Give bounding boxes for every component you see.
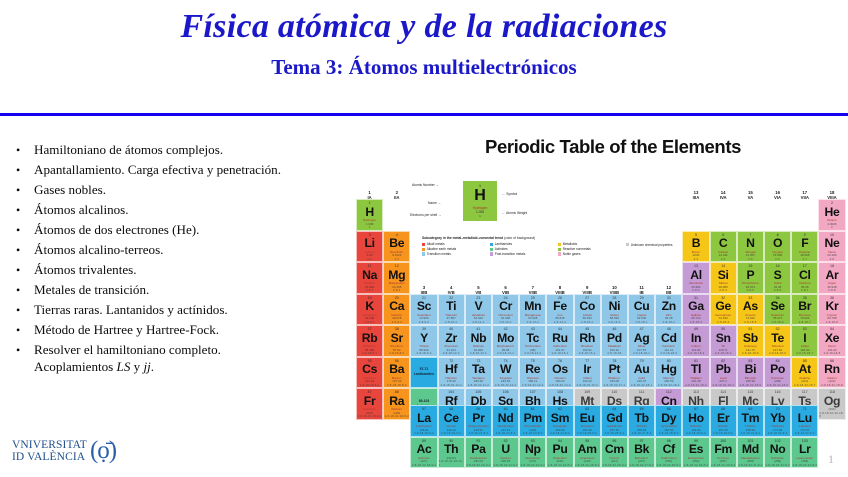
element-shells: 2-8-18-32-29-8-2	[684, 464, 708, 467]
element-shells: 2-8-18-32-18-1	[631, 384, 652, 387]
element-symbol: Au	[634, 363, 650, 375]
element-number: 45	[585, 327, 589, 331]
element-symbol: Be	[389, 237, 404, 249]
element-number: 60	[504, 407, 508, 411]
bullet-dot-icon: •	[14, 142, 34, 158]
element-symbol: Sm	[551, 412, 569, 424]
element-cell: 56BaBarium137.332-8-18-18-8-2	[383, 357, 410, 389]
element-symbol: Ar	[826, 269, 839, 281]
element-number: 32	[721, 296, 725, 300]
element-shells: 2-8-18-32-18-4	[712, 384, 733, 387]
element-shells: 2-8-18-10-2	[443, 352, 460, 355]
element-number: 71	[803, 407, 807, 411]
element-cell: 95AmAmericium(243)2-8-18-32-25-8-2	[574, 437, 601, 469]
element-cell: 59PrPraseodymium140.912-8-18-21-8-2	[465, 405, 492, 437]
element-shells: 2-8-16-2	[608, 321, 620, 324]
element-shells: 2-8-18-4	[717, 321, 729, 324]
group-number: 5	[477, 285, 479, 290]
key-label-shells: Electrons per shell →	[410, 213, 441, 217]
element-shells: 2-8-18-28-8-2	[659, 432, 679, 435]
element-cell: 45RhRhodium102.912-8-18-16-1	[574, 325, 601, 357]
element-number: 95	[585, 439, 589, 443]
element-shells: 1	[369, 226, 371, 229]
element-cell: 84PoPolonium(209)2-8-18-32-18-6	[764, 357, 791, 389]
legend-item: Post-transition metals	[490, 252, 554, 257]
element-number: 92	[504, 439, 508, 443]
element-number: 41	[476, 327, 480, 331]
element-number: 99	[694, 439, 698, 443]
element-shells: 2-8-18-32-25-8-2	[575, 464, 599, 467]
bullet-label-line2: Acoplamientos LS y jj.	[34, 359, 366, 376]
element-symbol: S	[774, 269, 782, 281]
element-shells: 2-8-18-8	[826, 321, 838, 324]
bullet-label: Átomos de dos electrones (He).	[34, 222, 366, 239]
element-shells: 2-8-6	[774, 289, 782, 292]
element-cell: 69TmThulium168.932-8-18-31-8-2	[737, 405, 764, 437]
element-symbol: H	[365, 206, 374, 218]
element-number: 9	[804, 233, 806, 237]
element-number: 86	[830, 359, 834, 363]
element-number: 109	[584, 390, 590, 394]
element-symbol: He	[824, 206, 839, 218]
element-cell: 97BkBerkelium(247)2-8-18-32-27-8-2	[628, 437, 655, 469]
element-number: 66	[667, 407, 671, 411]
element-number: 30	[667, 296, 671, 300]
element-cell: 26FeIron55.8452-8-14-2	[546, 294, 573, 326]
element-number: 98	[667, 439, 671, 443]
legend-unknown-label: Unknown chemical properties	[631, 243, 673, 248]
group-number: 15	[748, 190, 753, 195]
element-shells: 2-8-18-32-18-10-2	[439, 460, 464, 467]
element-number: 25	[531, 296, 535, 300]
element-cell: 63EuEuropium151.962-8-18-25-8-2	[574, 405, 601, 437]
element-cell: 55CsCaesium132.912-8-18-18-8-1	[356, 357, 383, 389]
element-number: 76	[558, 359, 562, 363]
element-cell: 50SnTin118.712-8-18-18-4	[710, 325, 737, 357]
element-number: 36	[830, 296, 834, 300]
element-shells: 2-8-18-32-12-2	[495, 384, 516, 387]
element-cell: 9FFluorine18.9982-7	[791, 231, 818, 263]
element-symbol: Th	[444, 443, 458, 455]
element-shells: 2-1	[367, 258, 372, 261]
element-number: 44	[558, 327, 562, 331]
page-subtitle: Tema 3: Átomos multielectrónicos	[0, 45, 848, 79]
element-symbol: Yb	[770, 412, 785, 424]
element-number: 10	[830, 233, 834, 237]
element-cell: 93NpNeptunium(237)2-8-18-32-22-9-2	[519, 437, 546, 469]
element-symbol: Am	[578, 443, 597, 455]
element-symbol: W	[500, 363, 511, 375]
element-shells: 2-8-8	[828, 289, 836, 292]
element-number: 87	[368, 390, 372, 394]
legend-column: MetalloidsReactive nonmetalsNoble gases	[558, 242, 622, 256]
element-shells: 2-8-18-7	[799, 321, 811, 324]
element-number: 47	[640, 327, 644, 331]
group-roman: VIIA	[791, 195, 818, 200]
element-shells: 2-8-18-18-9-2	[414, 432, 434, 435]
element-cell: 47AgSilver107.872-8-18-18-1	[628, 325, 655, 357]
element-symbol: Fm	[714, 443, 732, 455]
element-number: 51	[748, 327, 752, 331]
group-number: 6	[504, 285, 506, 290]
element-number: 22	[449, 296, 453, 300]
element-cell: 72HfHafnium178.492-8-18-32-10-2	[438, 357, 465, 389]
group-number: 12	[666, 285, 671, 290]
element-cell: 68ErErbium167.262-8-18-30-8-2	[710, 405, 737, 437]
element-symbol: Pt	[609, 363, 621, 375]
bullet-label: Átomos alcalino-terreos.	[34, 242, 366, 259]
element-cell: 85AtAstatine(210)2-8-18-32-18-7	[791, 357, 818, 389]
element-number: 84	[776, 359, 780, 363]
element-cell: 12MgMagnesium24.3052-8-2	[383, 262, 410, 294]
element-cell: 48CdCadmium112.412-8-18-18-2	[655, 325, 682, 357]
element-number: 48	[667, 327, 671, 331]
group-number: 14	[721, 190, 726, 195]
element-shells: 2-8-18-32-24-8-2	[548, 464, 572, 467]
bullet-dot-icon: •	[14, 202, 34, 218]
element-cell: 53IIodine126.902-8-18-18-7	[791, 325, 818, 357]
element-shells: 2-8-18-19-9-2	[441, 432, 461, 435]
element-number: 33	[748, 296, 752, 300]
element-number: 116	[775, 390, 781, 394]
element-number: 77	[585, 359, 589, 363]
element-number: 68	[721, 407, 725, 411]
element-shells: 2-8-18-2	[663, 321, 675, 324]
element-shells: 2-8-18-6	[772, 321, 784, 324]
legend-unknown-swatch-icon	[626, 243, 629, 246]
element-shells: 2-8-8-1	[364, 321, 374, 324]
element-cell: 46PdPalladium106.422-8-18-18	[601, 325, 628, 357]
element-shells: 2-8-5	[747, 289, 755, 292]
element-number: 103	[802, 439, 808, 443]
element-shells: 2-8-18-18-8-1	[360, 384, 380, 387]
bullet-label: Método de Hartree y Hartree-Fock.	[34, 322, 366, 339]
element-shells: 2-8-18-32-14-2	[549, 384, 570, 387]
element-number: 62	[558, 407, 562, 411]
element-symbol: Xe	[825, 332, 839, 344]
element-cell: 81TlThallium204.382-8-18-32-18-3	[682, 357, 709, 389]
element-symbol: Li	[364, 237, 374, 249]
element-shells: 2-8-18-25-8-2	[577, 432, 597, 435]
element-number: 107	[530, 390, 536, 394]
element-symbol: Sr	[391, 332, 403, 344]
element-symbol: Br	[798, 300, 811, 312]
bullet-item: •Gases nobles.	[14, 182, 366, 199]
element-cell: 58CeCerium140.122-8-18-19-9-2	[438, 405, 465, 437]
element-number: 23	[476, 296, 480, 300]
element-number: 52	[776, 327, 780, 331]
periodic-table-title: Periodic Table of the Elements	[382, 136, 844, 158]
element-shells: 2-8-18-18-3	[688, 352, 705, 355]
element-symbol: Cu	[634, 300, 650, 312]
group-roman: IIA	[383, 195, 410, 200]
element-cell: 66DyDysprosium162.502-8-18-28-8-2	[655, 405, 682, 437]
group-header: 2IIA	[383, 190, 410, 201]
element-cell: 73TaTantalum180.952-8-18-32-11-2	[465, 357, 492, 389]
element-shells: 2-8-18-12-1	[470, 352, 487, 355]
element-cell: 21ScScandium44.9562-8-9-2	[410, 294, 437, 326]
element-cell: 4BeBeryllium9.01222-2	[383, 231, 410, 263]
element-symbol: Gd	[606, 412, 622, 424]
bullet-label: Hamiltoniano de átomos complejos.	[34, 142, 366, 159]
element-shells: 2-2	[394, 258, 399, 261]
bullet-dot-icon: •	[14, 222, 34, 238]
element-symbol: Md	[742, 443, 759, 455]
element-symbol: Tc	[526, 332, 539, 344]
element-symbol: Ac	[416, 443, 431, 455]
element-cell: 37RbRubidium85.4682-8-18-8-1	[356, 325, 383, 357]
element-shells: 2-8-18-31-8-2	[741, 432, 761, 435]
element-number: 56	[395, 359, 399, 363]
element-number: 93	[531, 439, 535, 443]
element-number: 63	[585, 407, 589, 411]
element-shells: 2-8-13-1	[500, 321, 512, 324]
element-shells: 2-8-18-5	[744, 321, 756, 324]
element-cell: 99EsEinsteinium(252)2-8-18-32-29-8-2	[682, 437, 709, 469]
element-symbol: Se	[770, 300, 784, 312]
bullet-label: Resolver el hamiltoniano completo.Acopla…	[34, 342, 366, 376]
element-number: 97	[640, 439, 644, 443]
element-symbol: U	[501, 443, 510, 455]
element-symbol: Bi	[745, 363, 757, 375]
legend-item-label: Noble gases	[563, 252, 581, 257]
element-cell: 65TbTerbium158.932-8-18-27-8-2	[628, 405, 655, 437]
element-number: 12	[395, 264, 399, 268]
element-number: 108	[557, 390, 563, 394]
legend-swatch-icon	[558, 248, 561, 251]
element-number: 91	[476, 439, 480, 443]
element-symbol: B	[692, 237, 701, 249]
element-number: 38	[395, 327, 399, 331]
element-shells: 2-3	[694, 258, 699, 261]
element-cell: 102NoNobelium(259)2-8-18-32-32-8-2	[764, 437, 791, 469]
element-symbol: Pu	[552, 443, 567, 455]
element-number: 14	[721, 264, 725, 268]
element-symbol: Cs	[362, 363, 377, 375]
element-cell: 76OsOsmium190.232-8-18-32-14-2	[546, 357, 573, 389]
element-cell: 79AuGold196.972-8-18-32-18-1	[628, 357, 655, 389]
element-shells: 2-8-18-32-31-8-2	[738, 464, 762, 467]
element-shells: 2-8-18-32-18-9-2	[412, 464, 436, 467]
key-label-weight: ← Atomic Weight	[502, 211, 527, 215]
element-cell: 22TiTitanium47.8672-8-10-2	[438, 294, 465, 326]
element-cell: 27CoCobalt58.9332-8-15-2	[574, 294, 601, 326]
element-number: 82	[721, 359, 725, 363]
element-number: 26	[558, 296, 562, 300]
element-cell: 86RnRadon(222)2-8-18-32-18-8	[818, 357, 845, 389]
element-number: 2	[831, 201, 833, 205]
element-number: 6	[722, 233, 724, 237]
group-roman: VA	[737, 195, 764, 200]
element-number: 61	[531, 407, 535, 411]
element-cell: 29CuCopper63.5462-8-18-1	[628, 294, 655, 326]
element-cell: 28NiNickel58.6932-8-16-2	[601, 294, 628, 326]
element-symbol: Cl	[799, 269, 811, 281]
element-cell: 54XeXenon131.292-8-18-18-8	[818, 325, 845, 357]
element-symbol: Ti	[446, 300, 456, 312]
element-symbol: Tm	[742, 412, 760, 424]
element-shells: 2-8-18-32-27-8-2	[629, 464, 653, 467]
element-cell: 71LuLutetium174.972-8-18-32-9-2	[791, 405, 818, 437]
element-shells: 2-8-18-18-2	[660, 352, 677, 355]
element-number: 18	[830, 264, 834, 268]
element-shells: 2-8-18-32-18-7	[794, 384, 815, 387]
element-symbol: Er	[717, 412, 729, 424]
bullet-item: •Átomos de dos electrones (He).	[14, 222, 366, 239]
element-symbol: O	[773, 237, 782, 249]
element-cell: 70YbYtterbium173.052-8-18-32-8-2	[764, 405, 791, 437]
element-cell: 15PPhosphorus30.9742-8-5	[737, 262, 764, 294]
element-cell: 43TcTechnetium(98)2-8-18-13-2	[519, 325, 546, 357]
bullet-list: •Hamiltoniano de átomos complejos.•Apant…	[14, 142, 366, 379]
element-symbol: Si	[718, 269, 729, 281]
element-symbol: Rb	[362, 332, 378, 344]
element-symbol: Ge	[715, 300, 731, 312]
element-shells: 2-4	[721, 258, 726, 261]
element-cell: 42MoMolybdenum95.952-8-18-13-1	[492, 325, 519, 357]
element-number: 55	[368, 359, 372, 363]
element-symbol: P	[746, 269, 754, 281]
element-cell: 103LrLawrencium(266)2-8-18-32-32-8-3	[791, 437, 818, 469]
element-symbol: Mg	[388, 269, 405, 281]
bullet-dot-icon: •	[14, 242, 34, 258]
element-number: 69	[748, 407, 752, 411]
element-number: 106	[503, 390, 509, 394]
element-shells: 2-8-18-9-2	[416, 352, 431, 355]
element-symbol: Hg	[661, 363, 677, 375]
element-symbol: Cr	[499, 300, 512, 312]
header-divider	[0, 113, 848, 116]
element-symbol: Zn	[662, 300, 676, 312]
element-symbol: Ga	[688, 300, 704, 312]
series-placeholder-label: Lanthanides	[414, 372, 434, 377]
element-shells: 2-8-18-32-18-2	[658, 384, 679, 387]
element-cell: 17ClChlorine35.452-8-7	[791, 262, 818, 294]
group-header: 15VA	[737, 190, 764, 201]
element-cell: 30ZnZinc65.382-8-18-2	[655, 294, 682, 326]
element-cell: 82PbLead207.22-8-18-32-18-4	[710, 357, 737, 389]
group-number: 2	[396, 190, 398, 195]
element-symbol: Ce	[444, 412, 459, 424]
group-roman: IVA	[710, 195, 737, 200]
element-symbol: Rh	[579, 332, 595, 344]
element-cell: 24CrChromium51.9962-8-13-1	[492, 294, 519, 326]
element-symbol: Ca	[389, 300, 404, 312]
element-shells: 2-8-18-24-8-2	[550, 432, 570, 435]
legend-swatch-icon	[422, 243, 425, 246]
bullet-dot-icon: •	[14, 342, 34, 358]
element-cell: 23VVanadium50.9422-8-11-2	[465, 294, 492, 326]
element-cell: 33AsArsenic74.9222-8-18-5	[737, 294, 764, 326]
element-shells: 2-8-18-18-8-2	[387, 384, 407, 387]
group-number: 17	[802, 190, 807, 195]
element-number: 81	[694, 359, 698, 363]
element-number: 111	[639, 390, 644, 394]
element-cell: 49InIndium114.822-8-18-18-3	[682, 325, 709, 357]
element-symbol: Kr	[826, 300, 839, 312]
element-shells: 2-8-18-18-5	[742, 352, 759, 355]
legend-categories: Subcategory in the metal–metalloid–nonme…	[422, 236, 622, 256]
element-shells: 2-8-18-18-4	[715, 352, 732, 355]
element-number: 88	[395, 390, 399, 394]
legend-item-label: Post-transition metals	[495, 252, 526, 257]
element-symbol: Ag	[634, 332, 650, 344]
element-symbol: Sc	[417, 300, 431, 312]
element-symbol: F	[801, 237, 808, 249]
element-number: 75	[531, 359, 535, 363]
element-number: 57	[422, 407, 426, 411]
bullet-dot-icon: •	[14, 282, 34, 298]
element-symbol: Nd	[498, 412, 514, 424]
element-number: 39	[422, 327, 426, 331]
element-shells: 2-8-18-22-8-2	[496, 432, 516, 435]
element-cell: 67HoHolmium164.932-8-18-29-8-2	[682, 405, 709, 437]
element-cell: 6CCarbon12.0112-4	[710, 231, 737, 263]
legend-category-columns: Alkali metalsAlkaline earth metalsTransi…	[422, 242, 622, 256]
element-number: 59	[476, 407, 480, 411]
element-shells: 2-8-18-32-32-8-3	[793, 464, 817, 467]
element-shells: 2-8-18-32-17-1	[604, 384, 625, 387]
bullet-dot-icon: •	[14, 262, 34, 278]
element-cell: 16SSulfur32.062-8-6	[764, 262, 791, 294]
element-cell: 101MdMendelevium(258)2-8-18-32-31-8-2	[737, 437, 764, 469]
element-number: 114	[720, 390, 726, 394]
group-number: 10	[612, 285, 617, 290]
bullet-item: •Apantallamiento. Carga efectiva y penet…	[14, 162, 366, 179]
element-shells: 2-8-18-18	[607, 352, 621, 355]
element-number: 35	[803, 296, 807, 300]
legend-item: Transition metals	[422, 252, 486, 257]
element-symbol: Pm	[524, 412, 542, 424]
element-cell: 100FmFermium(257)2-8-18-32-30-8-2	[710, 437, 737, 469]
element-symbol: La	[417, 412, 431, 424]
element-shells: 2-8-8-2	[392, 321, 402, 324]
element-number: 50	[721, 327, 725, 331]
legend-unknown-properties: Unknown chemical properties	[626, 243, 673, 248]
element-symbol: As	[743, 300, 758, 312]
element-symbol: Na	[362, 269, 377, 281]
element-number: 101	[747, 439, 753, 443]
element-shells: 2-5	[748, 258, 753, 261]
logo-emblem-icon: (ọ̄)	[90, 440, 116, 463]
element-symbol: Bk	[634, 443, 649, 455]
element-cell: 92UUranium238.032-8-18-32-21-9-2	[492, 437, 519, 469]
legend-item-label: Transition metals	[427, 252, 451, 257]
group-header: 17VIIA	[791, 190, 818, 201]
series-placeholder-cell: 57-71Lanthanides	[410, 357, 437, 389]
element-cell: 94PuPlutonium(244)2-8-18-32-24-8-2	[546, 437, 573, 469]
element-number: 17	[803, 264, 807, 268]
element-cell: 64GdGadolinium157.252-8-18-25-9-2	[601, 405, 628, 437]
page-title: Física atómica y de la radiaciones	[0, 0, 848, 45]
bullet-dot-icon: •	[14, 302, 34, 318]
element-number: 89	[422, 439, 426, 443]
element-number: 72	[449, 359, 453, 363]
group-header: 16VIA	[764, 190, 791, 201]
element-symbol: C	[719, 237, 728, 249]
element-shells: 2-8-18-18-1	[633, 352, 650, 355]
element-number: 54	[830, 327, 834, 331]
element-symbol: Es	[689, 443, 703, 455]
element-number: 24	[504, 296, 508, 300]
element-cell: 7NNitrogen14.0072-5	[737, 231, 764, 263]
periodic-table-grid: 1 H Hydrogen 1.008 1 Atomic Number → Nam…	[356, 162, 844, 400]
element-number: 80	[667, 359, 671, 363]
element-number: 85	[803, 359, 807, 363]
element-cell: 14SiSilicon28.0852-8-4	[710, 262, 737, 294]
bullet-label: Gases nobles.	[34, 182, 366, 199]
key-label-name: Name →	[428, 201, 441, 205]
